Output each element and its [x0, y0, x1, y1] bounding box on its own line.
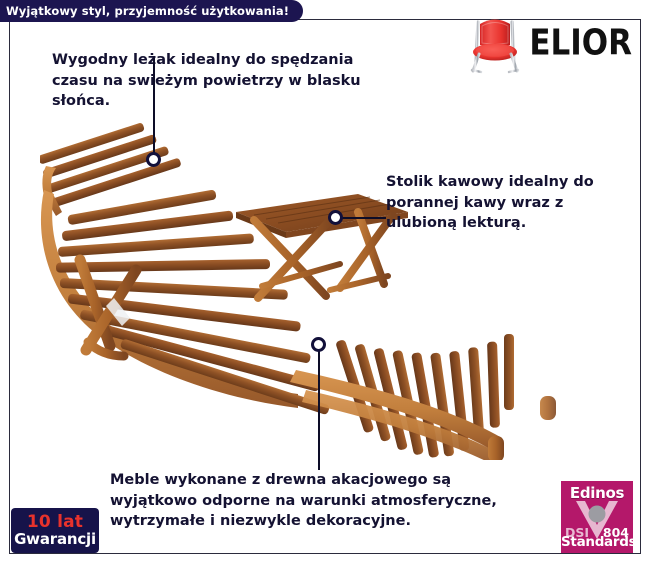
warranty-word: Gwarancji [14, 532, 96, 547]
brand-name: ELIOR [529, 25, 632, 61]
callout-lounger-leader [153, 58, 155, 158]
callout-material-leader [318, 348, 320, 470]
callout-marker-table[interactable] [328, 210, 343, 225]
callout-marker-lounger[interactable] [146, 152, 161, 167]
callout-table-text: Stolik kawowy idealny do porannej kawy w… [386, 172, 636, 234]
headline-banner-text: Wyjątkowy styl, przyjemność użytkowania! [6, 4, 289, 18]
warranty-badge: 10 lat Gwarancji [11, 508, 99, 553]
edinos-certificate-badge: Edinos DSI 804 Standards [561, 481, 633, 553]
red-chair-icon [467, 12, 523, 74]
edinos-brand: Edinos [561, 484, 633, 502]
brand-logo: ELIOR [467, 12, 632, 74]
callout-material-text: Meble wykonane z drewna akacjowego są wy… [110, 470, 540, 532]
edinos-standards: Standards [561, 534, 633, 550]
callout-table-leader [338, 217, 386, 219]
callout-marker-material[interactable] [311, 337, 326, 352]
callout-lounger-text: Wygodny leżak idealny do spędzania czasu… [52, 50, 382, 112]
product-image-sun-lounger [40, 120, 600, 460]
poster-canvas: Wyjątkowy styl, przyjemność użytkowania! [0, 0, 650, 564]
warranty-years: 10 lat [27, 514, 83, 531]
headline-banner: Wyjątkowy styl, przyjemność użytkowania! [0, 0, 303, 22]
